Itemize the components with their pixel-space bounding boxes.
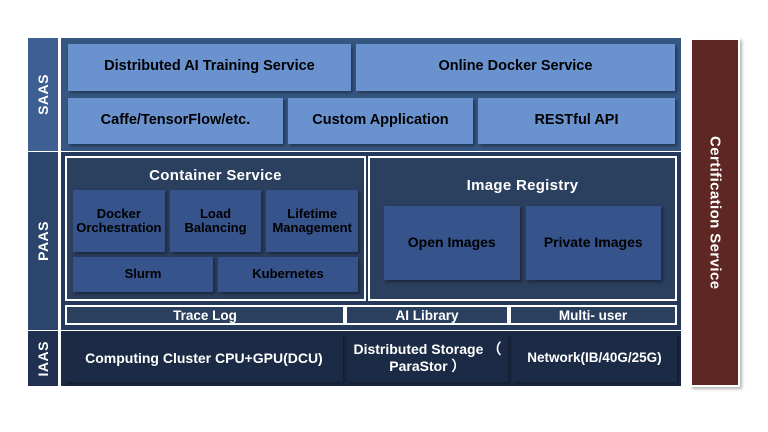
cell-computing-cluster[interactable]: Computing Cluster CPU+GPU(DCU) — [65, 334, 343, 382]
certification-service-label: Certification Service — [707, 136, 724, 289]
card-slurm[interactable]: Slurm — [73, 257, 213, 292]
card-label: Docker Orchestration — [73, 207, 165, 235]
cell-label: Trace Log — [173, 308, 237, 323]
cell-label: Multi- user — [559, 308, 627, 323]
cell-distributed-storage[interactable]: Distributed Storage （ ParaStor ） — [347, 334, 508, 382]
layer-saas-body: Distributed AI Training Service Online D… — [61, 38, 681, 151]
cell-label: AI Library — [395, 308, 458, 323]
layer-label-paas-text: PAAS — [35, 221, 51, 261]
image-registry-items: Open Images Private Images — [376, 206, 669, 292]
card-label: Caffe/TensorFlow/etc. — [101, 113, 251, 129]
panel-title-image-registry: Image Registry — [376, 163, 669, 206]
card-docker-orchestration[interactable]: Docker Orchestration — [73, 190, 165, 252]
iaas-items: Computing Cluster CPU+GPU(DCU) Distribut… — [61, 331, 681, 386]
container-service-row-2: Slurm Kubernetes — [73, 257, 358, 292]
card-caffe-tensorflow[interactable]: Caffe/TensorFlow/etc. — [68, 98, 283, 145]
paas-main-panels: Container Service Docker Orchestration L… — [61, 152, 681, 301]
card-label: Online Docker Service — [439, 59, 593, 75]
certification-service-bar[interactable]: Certification Service — [690, 38, 740, 387]
card-lifetime-management[interactable]: Lifetime Management — [266, 190, 358, 252]
cell-label: Network(IB/40G/25G) — [527, 350, 661, 366]
card-label: Slurm — [125, 267, 162, 281]
card-label: Load Balancing — [170, 207, 262, 235]
card-label: Private Images — [544, 235, 643, 250]
card-label: Lifetime Management — [266, 207, 358, 235]
card-label: RESTful API — [534, 113, 618, 129]
card-private-images[interactable]: Private Images — [526, 206, 662, 280]
layer-saas: SAAS Distributed AI Training Service Onl… — [28, 38, 682, 152]
panel-image-registry: Image Registry Open Images Private Image… — [368, 156, 677, 301]
container-service-grid: Docker Orchestration Load Balancing Life… — [73, 190, 358, 292]
layer-iaas: IAAS Computing Cluster CPU+GPU(DCU) Dist… — [28, 331, 682, 387]
card-label: Kubernetes — [252, 267, 324, 281]
cell-ai-library[interactable]: AI Library — [345, 305, 509, 325]
diagram-canvas: SAAS Distributed AI Training Service Onl… — [0, 0, 768, 432]
card-online-docker-service[interactable]: Online Docker Service — [356, 44, 675, 91]
card-distributed-ai-training-service[interactable]: Distributed AI Training Service — [68, 44, 351, 91]
layer-label-iaas: IAAS — [28, 331, 61, 386]
cell-label: Distributed Storage （ ParaStor ） — [347, 341, 508, 375]
container-service-row-1: Docker Orchestration Load Balancing Life… — [73, 190, 358, 252]
card-load-balancing[interactable]: Load Balancing — [170, 190, 262, 252]
paas-services-strip: Trace Log AI Library Multi- user — [61, 301, 681, 330]
card-custom-application[interactable]: Custom Application — [288, 98, 473, 145]
layer-stack: SAAS Distributed AI Training Service Onl… — [28, 38, 682, 387]
layer-label-iaas-text: IAAS — [35, 341, 51, 376]
cell-multi-user[interactable]: Multi- user — [509, 305, 677, 325]
card-kubernetes[interactable]: Kubernetes — [218, 257, 358, 292]
architecture-diagram: SAAS Distributed AI Training Service Onl… — [28, 38, 740, 387]
cell-network[interactable]: Network(IB/40G/25G) — [512, 334, 677, 382]
cell-trace-log[interactable]: Trace Log — [65, 305, 345, 325]
layer-paas-body: Container Service Docker Orchestration L… — [61, 152, 681, 330]
saas-rows: Distributed AI Training Service Online D… — [61, 38, 681, 151]
layer-iaas-body: Computing Cluster CPU+GPU(DCU) Distribut… — [61, 331, 681, 386]
card-open-images[interactable]: Open Images — [384, 206, 520, 280]
card-restful-api[interactable]: RESTful API — [478, 98, 675, 145]
layer-label-saas-text: SAAS — [35, 74, 51, 115]
panel-title-container-service: Container Service — [73, 163, 358, 190]
card-label: Open Images — [408, 235, 496, 250]
layer-paas: PAAS Container Service Docker Orchestrat… — [28, 152, 682, 331]
card-label: Custom Application — [312, 113, 448, 129]
card-label: Distributed AI Training Service — [104, 59, 315, 75]
saas-row-2: Caffe/TensorFlow/etc. Custom Application… — [68, 98, 675, 145]
layer-label-paas: PAAS — [28, 152, 61, 330]
cell-label: Computing Cluster CPU+GPU(DCU) — [85, 350, 323, 367]
panel-container-service: Container Service Docker Orchestration L… — [65, 156, 366, 301]
layer-label-saas: SAAS — [28, 38, 61, 151]
saas-row-1: Distributed AI Training Service Online D… — [68, 44, 675, 91]
